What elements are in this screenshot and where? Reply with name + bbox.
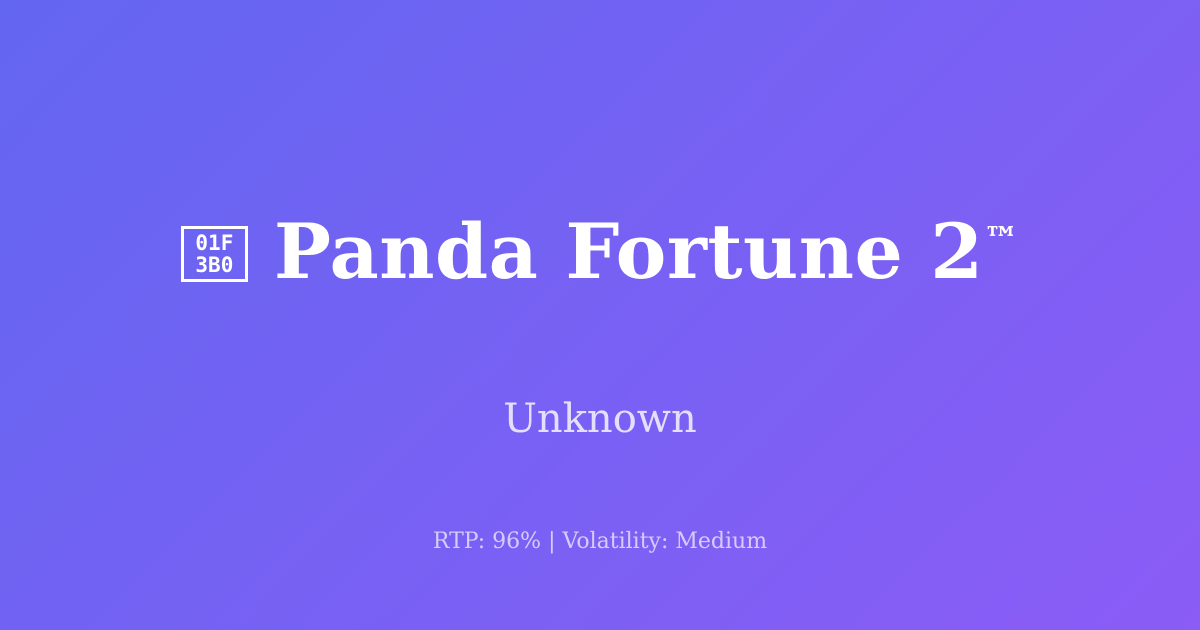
game-provider-subtitle: Unknown: [503, 395, 697, 443]
trademark-symbol: ™: [984, 220, 1019, 261]
og-share-card: 01F 3B0 Panda Fortune 2™ Unknown RTP: 96…: [0, 0, 1200, 630]
card-main-content: 01F 3B0 Panda Fortune 2™ Unknown: [181, 161, 1019, 443]
tofu-codepoint-bottom: 3B0: [195, 254, 233, 276]
tofu-codepoint-top: 01F: [195, 232, 233, 254]
game-title-text: Panda Fortune 2™: [274, 212, 1019, 292]
page-title: 01F 3B0 Panda Fortune 2™: [181, 212, 1019, 292]
game-stats-footer: RTP: 96% | Volatility: Medium: [0, 528, 1200, 556]
slot-machine-icon: 01F 3B0: [181, 226, 248, 282]
game-title-label: Panda Fortune 2: [274, 207, 984, 296]
